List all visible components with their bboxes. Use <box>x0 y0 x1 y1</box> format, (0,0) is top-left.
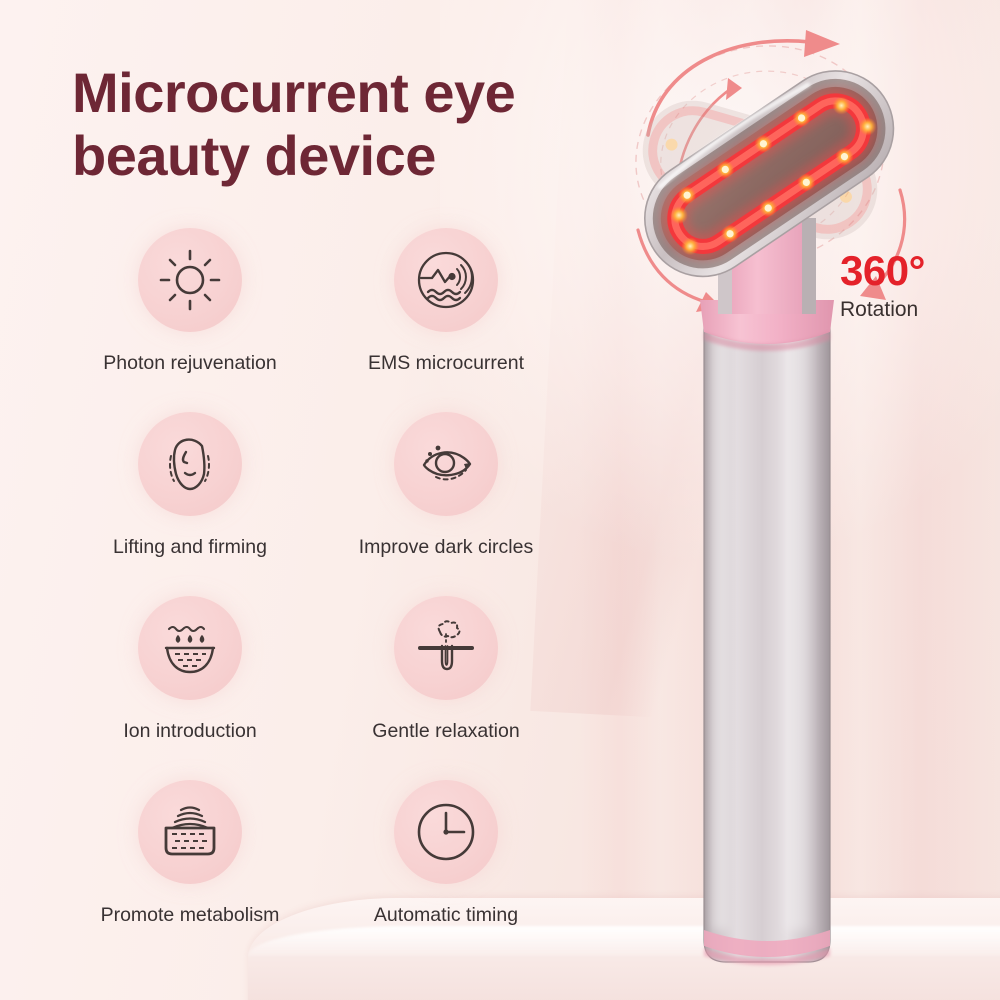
feature-label: Photon rejuvenation <box>103 352 276 375</box>
sun-icon <box>158 248 222 312</box>
feature-label: Improve dark circles <box>359 536 533 559</box>
device-collar <box>700 300 834 351</box>
feature-gentle-relaxation: Gentle relaxation <box>318 596 574 780</box>
feature-automatic-timing: Automatic timing <box>318 780 574 964</box>
device-head-ghost <box>631 89 889 251</box>
feature-badge <box>394 228 498 332</box>
feature-badge <box>138 412 242 516</box>
face-profile-icon <box>158 432 222 496</box>
feature-label: Automatic timing <box>374 904 518 927</box>
feature-promote-metabolism: Promote metabolism <box>62 780 318 964</box>
feature-badge <box>394 780 498 884</box>
feature-row: Photon rejuvenation EMS microcurr <box>62 228 582 412</box>
feature-badge <box>138 596 242 700</box>
feature-row: Lifting and firming Improve dark circles <box>62 412 582 596</box>
feature-ion-introduction: Ion introduction <box>62 596 318 780</box>
skin-waves-icon <box>158 800 222 864</box>
feature-label: Ion introduction <box>123 720 256 743</box>
rotation-sublabel: Rotation <box>840 299 925 320</box>
product-marketing-image: Microcurrent eye beauty device 360° Rota… <box>0 0 1000 1000</box>
hair-follicle-icon <box>414 616 478 680</box>
feature-ems-microcurrent: EMS microcurrent <box>318 228 574 412</box>
feature-improve-dark-circles: Improve dark circles <box>318 412 574 596</box>
device-neck <box>718 218 816 314</box>
feature-lifting-and-firming: Lifting and firming <box>62 412 318 596</box>
page-title: Microcurrent eye beauty device <box>72 62 632 187</box>
feature-label: Lifting and firming <box>113 536 267 559</box>
device-handle <box>704 322 830 965</box>
ems-wave-icon <box>414 248 478 312</box>
water-droplet-bowl-icon <box>158 616 222 680</box>
feature-badge <box>394 412 498 516</box>
feature-label: Gentle relaxation <box>372 720 519 743</box>
led-dots <box>653 78 887 269</box>
clock-icon <box>414 800 478 864</box>
feature-row: Promote metabolism Automatic timing <box>62 780 582 964</box>
feature-grid: Photon rejuvenation EMS microcurr <box>62 228 582 964</box>
feature-label: EMS microcurrent <box>368 352 524 375</box>
feature-badge <box>138 780 242 884</box>
rotation-degrees: 360° <box>840 250 925 292</box>
feature-row: Ion introduction Gentle relaxation <box>62 596 582 780</box>
rotation-callout: 360° Rotation <box>840 250 925 320</box>
feature-label: Promote metabolism <box>101 904 280 927</box>
feature-badge <box>138 228 242 332</box>
feature-badge <box>394 596 498 700</box>
eye-icon <box>414 432 478 496</box>
feature-photon-rejuvenation: Photon rejuvenation <box>62 228 318 412</box>
device-illustration <box>600 0 1000 1000</box>
